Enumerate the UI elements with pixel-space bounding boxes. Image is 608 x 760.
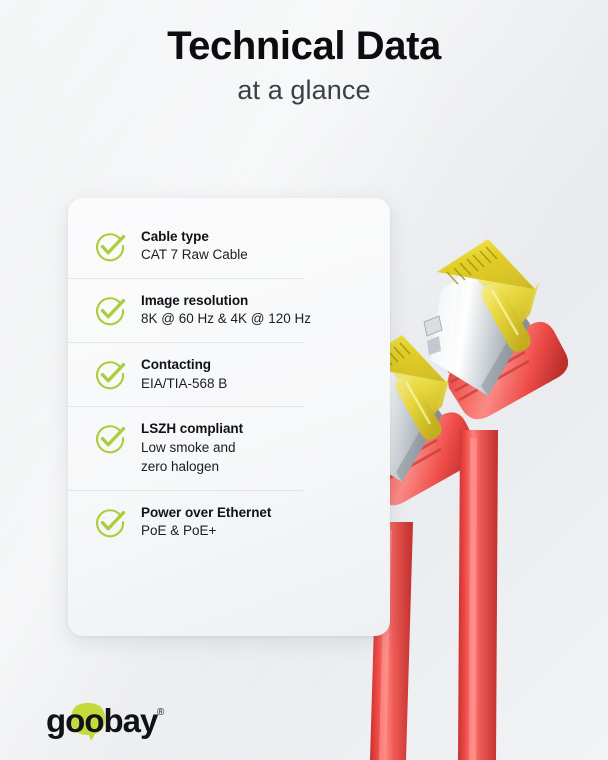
header: Technical Data at a glance (0, 24, 608, 106)
feature-text: Image resolution 8K @ 60 Hz & 4K @ 120 H… (141, 291, 311, 329)
feature-title: Cable type (141, 228, 248, 245)
feature-row-image-resolution: Image resolution 8K @ 60 Hz & 4K @ 120 H… (68, 278, 390, 342)
logo-wordmark: goobay (46, 702, 159, 739)
feature-row-cable-type: Cable type CAT 7 Raw Cable (68, 214, 390, 278)
feature-value: EIA/TIA-568 B (141, 375, 227, 394)
feature-text: Cable type CAT 7 Raw Cable (141, 227, 248, 265)
feature-row-lszh-compliant: LSZH compliant Low smoke and zero haloge… (68, 406, 390, 489)
technical-data-card: Cable type CAT 7 Raw Cable Image resolut… (68, 198, 390, 636)
feature-title: Image resolution (141, 292, 311, 309)
feature-title: Power over Ethernet (141, 504, 271, 521)
check-circle-icon (93, 505, 127, 539)
check-circle-icon (93, 229, 127, 263)
goobay-logo: goobay ® (44, 699, 174, 741)
check-circle-icon (93, 421, 127, 455)
feature-value: CAT 7 Raw Cable (141, 246, 248, 265)
check-circle-icon (93, 357, 127, 391)
feature-value: Low smoke and zero halogen (141, 439, 243, 477)
check-circle-icon (93, 293, 127, 327)
feature-list: Cable type CAT 7 Raw Cable Image resolut… (68, 198, 390, 636)
feature-text: Power over Ethernet PoE & PoE+ (141, 503, 271, 541)
feature-row-contacting: Contacting EIA/TIA-568 B (68, 342, 390, 406)
infographic-canvas: Technical Data at a glance Cable type CA… (0, 0, 608, 760)
logo-trademark: ® (157, 707, 165, 718)
feature-row-power-over-ethernet: Power over Ethernet PoE & PoE+ (68, 490, 390, 554)
feature-text: Contacting EIA/TIA-568 B (141, 355, 227, 393)
feature-value: 8K @ 60 Hz & 4K @ 120 Hz (141, 310, 311, 329)
page-title: Technical Data (0, 24, 608, 69)
feature-title: Contacting (141, 356, 227, 373)
feature-value: PoE & PoE+ (141, 522, 271, 541)
feature-text: LSZH compliant Low smoke and zero haloge… (141, 419, 243, 476)
page-subtitle: at a glance (0, 75, 608, 106)
feature-title: LSZH compliant (141, 420, 243, 437)
